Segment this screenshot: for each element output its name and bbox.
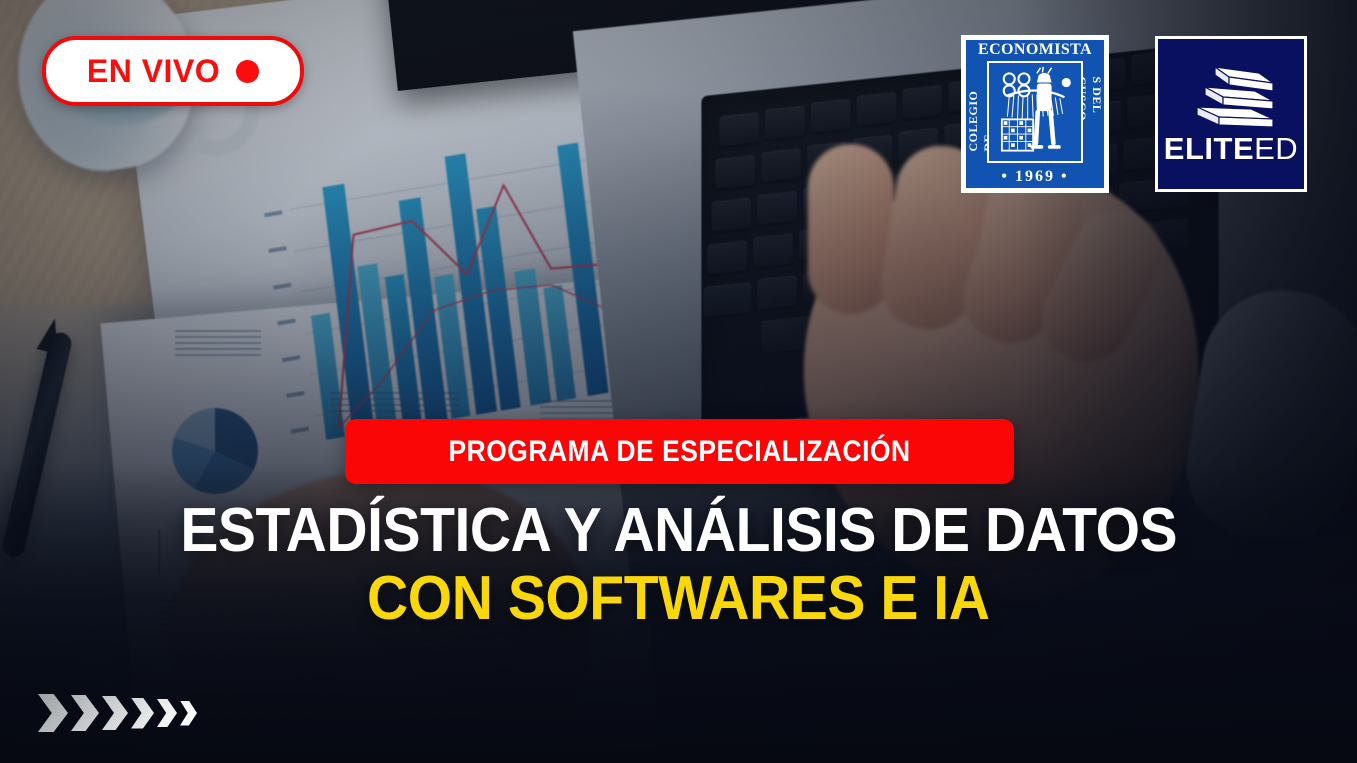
live-badge-label: EN VIVO — [87, 55, 220, 87]
partner-name-bold: ELITE — [1164, 131, 1254, 166]
stacked-books-icon — [1185, 65, 1277, 127]
crest-dot-right: • — [1061, 168, 1069, 185]
program-badge[interactable]: PROGRAMA DE ESPECIALIZACIÓN — [345, 419, 1014, 484]
crest-dot-left: • — [1001, 168, 1009, 185]
partner-logo[interactable]: ELITEED — [1155, 36, 1307, 192]
partner-name-light: ED — [1254, 131, 1298, 166]
crest-year: • 1969 • — [965, 168, 1105, 186]
headline-secondary: CON SOFTWARES E IA — [0, 568, 1357, 630]
live-badge[interactable]: EN VIVO — [42, 36, 304, 106]
banner-content: EN VIVO ECONOMISTA COLEGIO DE S DEL CUSC… — [0, 0, 1357, 763]
crest-ring-top: ECONOMISTA — [965, 41, 1105, 59]
inca-quipu-figure-icon — [989, 63, 1081, 161]
institution-logo-crest: ECONOMISTA COLEGIO DE S DEL CUSCO — [965, 39, 1105, 189]
headline-primary-text: ESTADÍSTICA Y ANÁLISIS DE DATOS — [180, 500, 1177, 562]
crest-emblem-frame — [987, 61, 1083, 163]
crest-year-label: 1969 — [1015, 168, 1055, 185]
live-dot-icon — [236, 60, 259, 83]
headline-primary: ESTADÍSTICA Y ANÁLISIS DE DATOS — [0, 500, 1357, 562]
program-badge-label: PROGRAMA DE ESPECIALIZACIÓN — [448, 435, 910, 469]
institution-logo[interactable]: ECONOMISTA COLEGIO DE S DEL CUSCO — [961, 35, 1109, 193]
chevron-arrows-icon — [38, 694, 197, 732]
partner-logo-wordmark: ELITEED — [1164, 133, 1298, 164]
promo-banner: Quarter 1 Quarter 2 Quarter 3 Quarter 4 — [0, 0, 1357, 763]
headline-secondary-text: CON SOFTWARES E IA — [367, 568, 989, 630]
